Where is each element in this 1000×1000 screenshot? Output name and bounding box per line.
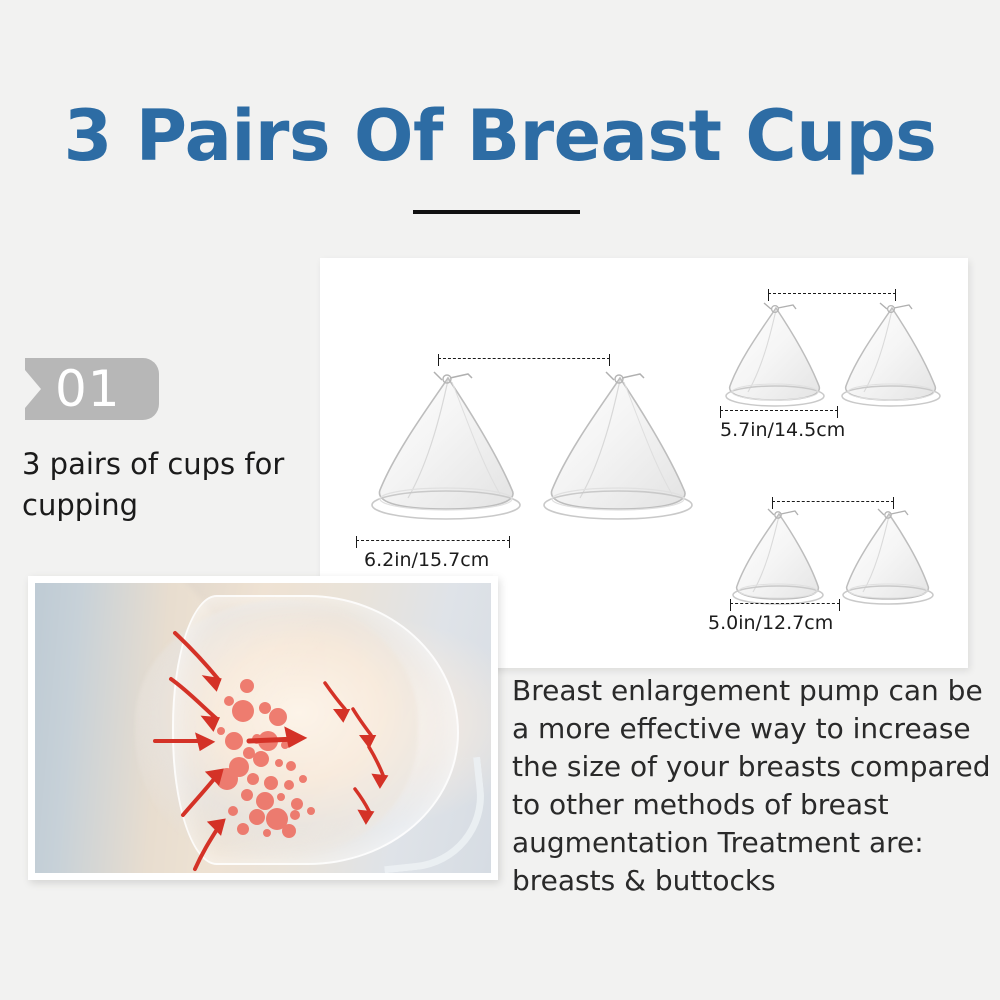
large-cup-right	[528, 368, 708, 528]
feature-number-badge: 01	[25, 358, 159, 420]
cupping-photo	[35, 583, 491, 873]
medium-cup-right	[830, 300, 950, 412]
small-cup-right	[832, 506, 944, 608]
product-infographic: 3 Pairs Of Breast Cups 01 3 pairs of cup…	[0, 0, 1000, 1000]
large-cup-size-label: 6.2in/15.7cm	[364, 548, 489, 572]
small-cup-left	[722, 506, 834, 608]
feature-number-label: 01	[55, 360, 159, 418]
title-underline-rule	[413, 210, 580, 214]
cupping-photo-frame	[28, 576, 498, 880]
product-description: Breast enlargement pump can be a more ef…	[512, 672, 994, 900]
photo-flow-overlay	[35, 583, 491, 873]
medium-cup-size-label: 5.7in/14.5cm	[720, 418, 845, 442]
feature-caption: 3 pairs of cups for cupping	[22, 444, 312, 526]
medium-cup-left	[714, 300, 834, 412]
small-cup-size-label: 5.0in/12.7cm	[708, 611, 833, 635]
blood-flow-dots	[216, 679, 315, 838]
page-title: 3 Pairs Of Breast Cups	[0, 96, 1000, 176]
large-cup-left	[356, 368, 536, 528]
